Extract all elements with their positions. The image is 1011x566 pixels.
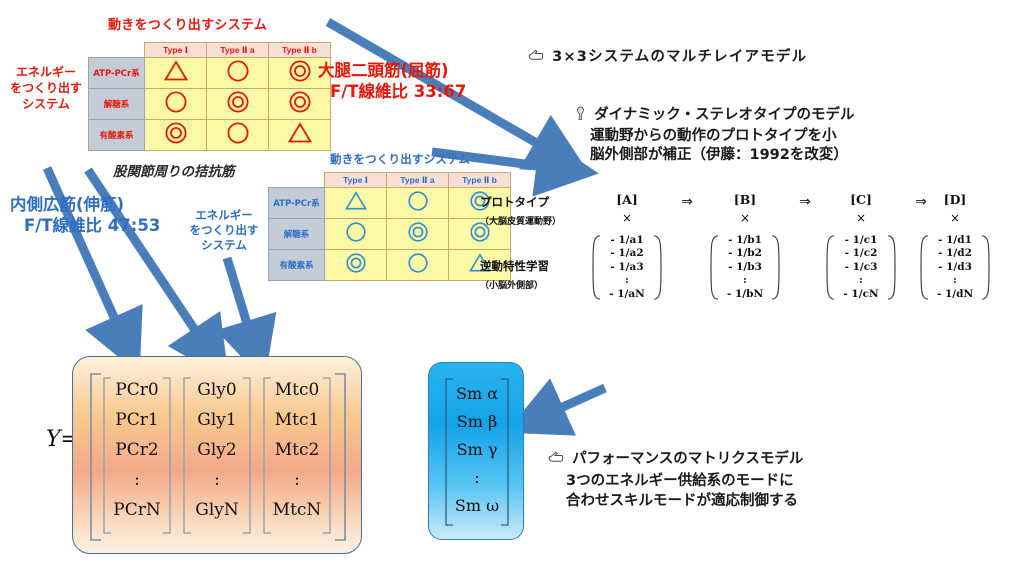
prototype-col-A-header: [A] — [584, 192, 670, 207]
table-blue-col-0: Type Ⅰ — [325, 173, 387, 188]
vector-value: - 1/a1 — [584, 234, 670, 247]
vector-value: : — [584, 274, 670, 287]
table-row: 解糖系 — [269, 219, 511, 250]
annotation-extensor-line2: F/T線維比 47:53 — [10, 215, 160, 236]
table-row: ATP-PCr系 — [89, 58, 331, 89]
matrix-value: MtcN — [259, 495, 335, 525]
vector-value: - 1/b1 — [702, 234, 788, 247]
y-matrix-col-PCr: PCr0 PCr1 PCr2 : PCrN — [99, 375, 175, 525]
table-red-cell-2-0 — [145, 120, 207, 151]
pen-icon — [576, 106, 587, 127]
matrix-value: Sm α — [441, 380, 513, 408]
vector-value: : — [702, 274, 788, 287]
table-red-row-1-label: 解糖系 — [89, 89, 145, 120]
prototype-col-C-header: [C] — [818, 192, 904, 207]
prototype-col-C-vector: - 1/c1 - 1/c2 - 1/c3 : - 1/cN — [818, 234, 904, 301]
vector-value: - 1/d3 — [912, 261, 998, 274]
circle-icon — [345, 221, 367, 243]
table-red-caption: 股関節周りの拮抗筋 — [113, 160, 235, 180]
note-multilayer-text: 3×3システムのマルチレイアモデル — [552, 49, 807, 65]
table-blue-top-label: 動きをつくり出すシステム — [330, 150, 470, 168]
table-red-row-0-label: ATP-PCr系 — [89, 58, 145, 89]
matrix-value: Mtc2 — [259, 435, 335, 465]
prototype-col-B: [B] × - 1/b1 - 1/b2 - 1/b3 : - 1/bN — [702, 192, 788, 301]
triangle-icon — [164, 60, 188, 81]
prototype-col-A-vector: - 1/a1 - 1/a2 - 1/a3 : - 1/aN — [584, 234, 670, 301]
triangle-icon — [345, 191, 367, 210]
matrix-value: Mtc1 — [259, 405, 335, 435]
matrix-value: Sm γ — [441, 436, 513, 464]
table-blue-cell-0-1 — [387, 188, 449, 219]
table-red-left-label-line2: をつくり出す — [8, 80, 84, 96]
vector-value: - 1/a3 — [584, 261, 670, 274]
prototype-row1-label: プロトタイプ — [480, 194, 549, 210]
prototype-arrow-1: ⇒ — [676, 194, 698, 210]
matrix-value: PCr2 — [99, 435, 175, 465]
table-blue-top-label-text: 動きをつくり出すシステム — [330, 152, 470, 166]
matrix-value: PCrN — [99, 495, 175, 525]
prototype-arrow-2: ⇒ — [794, 194, 816, 210]
note-multilayer: 3×3システムのマルチレイアモデル — [528, 48, 807, 69]
vector-value: - 1/d1 — [912, 234, 998, 247]
circle-icon — [407, 252, 429, 274]
circle-icon — [407, 190, 429, 212]
vector-value: - 1/b3 — [702, 261, 788, 274]
vector-value: - 1/a2 — [584, 247, 670, 260]
y-matrix-col-Mtc: Mtc0 Mtc1 Mtc2 : MtcN — [259, 375, 335, 525]
y-matrix-col-PCr-values: PCr0 PCr1 PCr2 : PCrN — [99, 375, 175, 525]
table-red-cell-0-0 — [145, 58, 207, 89]
prototype-col-D-times: × — [912, 211, 998, 225]
table-blue-cell-0-0 — [325, 188, 387, 219]
prototype-col-C: [C] × - 1/c1 - 1/c2 - 1/c3 : - 1/cN — [818, 192, 904, 301]
table-blue-left-label-line1: エネルギー — [186, 208, 262, 223]
vector-value: - 1/aN — [584, 288, 670, 301]
prototype-col-B-header: [B] — [702, 192, 788, 207]
table-red-cell-0-1 — [207, 58, 269, 89]
annotation-extensor: 内側広筋(伸筋) F/T線維比 47:53 — [10, 194, 160, 236]
table-red: Type Ⅰ Type Ⅱ a Type Ⅱ b ATP-PCr系 解糖系 — [88, 42, 331, 151]
matrix-value: Sm ω — [441, 492, 513, 520]
matrix-value: Gly0 — [179, 375, 255, 405]
prototype-row2-label: 逆動特性学習 — [480, 258, 549, 274]
table-red-top-label-text: 動きをつくり出すシステム — [108, 18, 267, 33]
table-blue-corner — [269, 173, 325, 188]
table-row: 有酸素系 — [269, 250, 511, 281]
triangle-icon — [288, 122, 312, 143]
matrix-value: PCr0 — [99, 375, 175, 405]
table-blue-cell-2-0 — [325, 250, 387, 281]
y-matrix-col-Mtc-values: Mtc0 Mtc1 Mtc2 : MtcN — [259, 375, 335, 525]
note-performance-line1: パフォーマンスのマトリクスモデル — [572, 451, 803, 467]
double-circle-icon — [345, 252, 367, 274]
double-circle-icon — [288, 90, 312, 114]
vector-value: - 1/dN — [912, 288, 998, 301]
table-row: 解糖系 — [89, 89, 331, 120]
prototype-col-D-values: - 1/d1 - 1/d2 - 1/d3 : - 1/dN — [912, 234, 998, 301]
prototype-col-B-times: × — [702, 211, 788, 225]
matrix-value: : — [259, 465, 335, 495]
matrix-value: Gly1 — [179, 405, 255, 435]
matrix-value: Gly2 — [179, 435, 255, 465]
matrix-value: Sm β — [441, 408, 513, 436]
vector-value: - 1/cN — [818, 288, 904, 301]
sm-matrix-values: Sm α Sm β Sm γ : Sm ω — [441, 380, 513, 520]
note-dynamic: ダイナミック・ステレオタイプのモデル 運動野からの動作のプロトタイプを小 脳外側… — [576, 106, 854, 165]
table-row: 有酸素系 — [89, 120, 331, 151]
table-blue-cell-1-1 — [387, 219, 449, 250]
annotation-flexor-line1: 大腿二頭筋(屈筋) — [318, 60, 466, 81]
table-red-cell-1-0 — [145, 89, 207, 120]
table-red-left-label: エネルギー をつくり出す システム — [8, 64, 84, 112]
table-red-row-2-label: 有酸素系 — [89, 120, 145, 151]
table-blue-cell-2-1 — [387, 250, 449, 281]
sm-matrix-box: Sm α Sm β Sm γ : Sm ω — [428, 362, 524, 540]
annotation-flexor-line2: F/T線維比 33:67 — [318, 81, 466, 102]
prototype-col-A: [A] × - 1/a1 - 1/a2 - 1/a3 : - 1/aN — [584, 192, 670, 301]
vector-value: - 1/c1 — [818, 234, 904, 247]
prototype-col-C-times: × — [818, 211, 904, 225]
matrix-value: : — [99, 465, 175, 495]
prototype-col-C-values: - 1/c1 - 1/c2 - 1/c3 : - 1/cN — [818, 234, 904, 301]
table-red-top-label: 動きをつくり出すシステム — [108, 14, 267, 34]
table-blue-row-0-label: ATP-PCr系 — [269, 188, 325, 219]
double-circle-icon — [288, 59, 312, 83]
note-dynamic-line1: ダイナミック・ステレオタイプのモデル — [594, 107, 854, 123]
table-row: Type Ⅰ Type Ⅱ a Type Ⅱ b — [269, 173, 511, 188]
annotation-extensor-line1: 内側広筋(伸筋) — [10, 194, 160, 215]
table-blue-row-2-label: 有酸素系 — [269, 250, 325, 281]
prototype-col-D-vector: - 1/d1 - 1/d2 - 1/d3 : - 1/dN — [912, 234, 998, 301]
table-red-col-2: Type Ⅱ b — [269, 43, 331, 58]
table-blue-col-1: Type Ⅱ a — [387, 173, 449, 188]
pointing-hand-icon — [548, 451, 564, 471]
vector-value: : — [912, 274, 998, 287]
prototype-row1-sub: （大脳皮質運動野） — [480, 214, 561, 227]
table-blue-col-2: Type Ⅱ b — [449, 173, 511, 188]
prototype-col-A-times: × — [584, 211, 670, 225]
table-blue-left-label: エネルギー をつくり出す システム — [186, 208, 262, 253]
y-matrix-box: PCr0 PCr1 PCr2 : PCrN Gly0 Gly1 Gly2 : G… — [72, 356, 362, 554]
table-red-corner — [89, 43, 145, 58]
table-red-cell-2-2 — [269, 120, 331, 151]
table-row: ATP-PCr系 — [269, 188, 511, 219]
matrix-value: Mtc0 — [259, 375, 335, 405]
prototype-col-B-values: - 1/b1 - 1/b2 - 1/b3 : - 1/bN — [702, 234, 788, 301]
note-performance: パフォーマンスのマトリクスモデル 3つのエネルギー供給系のモードに 合わせスキル… — [548, 449, 803, 511]
prototype-col-A-values: - 1/a1 - 1/a2 - 1/a3 : - 1/aN — [584, 234, 670, 301]
prototype-col-B-vector: - 1/b1 - 1/b2 - 1/b3 : - 1/bN — [702, 234, 788, 301]
double-circle-icon — [164, 121, 188, 145]
table-red-cell-1-1 — [207, 89, 269, 120]
table-red-left-label-line3: システム — [8, 96, 84, 112]
matrix-value: GlyN — [179, 495, 255, 525]
table-red-left-label-line1: エネルギー — [8, 64, 84, 80]
note-performance-line2: 3つのエネルギー供給系のモードに — [548, 471, 803, 491]
prototype-col-D-header: [D] — [912, 192, 998, 207]
arrow-blue-energy-to-ybox — [227, 258, 252, 340]
prototype-row2-sub: （小脳外側部） — [480, 278, 543, 291]
circle-icon — [226, 59, 250, 83]
arrow-note-to-smbox — [545, 388, 605, 415]
table-red-cell-2-1 — [207, 120, 269, 151]
circle-icon — [226, 121, 250, 145]
matrix-value: : — [179, 465, 255, 495]
pointing-hand-icon — [528, 49, 544, 69]
note-dynamic-line2: 運動野からの動作のプロトタイプを小 — [576, 127, 854, 146]
double-circle-icon — [407, 221, 429, 243]
prototype-col-D: [D] × - 1/d1 - 1/d2 - 1/d3 : - 1/dN — [912, 192, 998, 301]
annotation-flexor: 大腿二頭筋(屈筋) F/T線維比 33:67 — [318, 60, 466, 102]
y-matrix-col-Gly: Gly0 Gly1 Gly2 : GlyN — [179, 375, 255, 525]
table-blue-cell-1-0 — [325, 219, 387, 250]
double-circle-icon — [226, 90, 250, 114]
table-blue-row-1-label: 解糖系 — [269, 219, 325, 250]
matrix-value: PCr1 — [99, 405, 175, 435]
table-blue: Type Ⅰ Type Ⅱ a Type Ⅱ b ATP-PCr系 解糖系 — [268, 172, 511, 281]
table-blue-left-label-line3: システム — [186, 238, 262, 253]
vector-value: : — [818, 274, 904, 287]
table-row: Type Ⅰ Type Ⅱ a Type Ⅱ b — [89, 43, 331, 58]
note-performance-line3: 合わせスキルモードが適応制御する — [548, 491, 803, 511]
vector-value: - 1/c3 — [818, 261, 904, 274]
vector-value: - 1/bN — [702, 288, 788, 301]
table-red-col-1: Type Ⅱ a — [207, 43, 269, 58]
circle-icon — [164, 90, 188, 114]
vector-value: - 1/c2 — [818, 247, 904, 260]
table-blue-left-label-line2: をつくり出す — [186, 223, 262, 238]
note-dynamic-line3: 脳外側部が補正（伊藤：1992を改変） — [576, 146, 854, 165]
vector-value: - 1/b2 — [702, 247, 788, 260]
table-red-col-0: Type Ⅰ — [145, 43, 207, 58]
matrix-value: : — [441, 464, 513, 492]
vector-value: - 1/d2 — [912, 247, 998, 260]
y-matrix-col-Gly-values: Gly0 Gly1 Gly2 : GlyN — [179, 375, 255, 525]
